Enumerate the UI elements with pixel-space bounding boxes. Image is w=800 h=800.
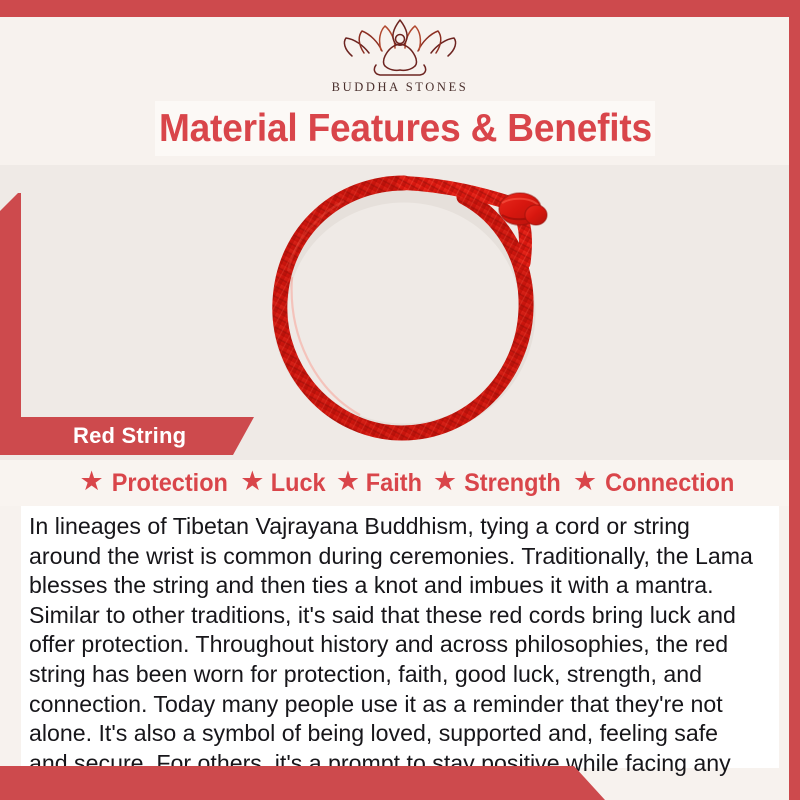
frame-left-accent-band (0, 193, 21, 455)
description-text: In lineages of Tibetan Vajrayana Buddhis… (29, 512, 756, 800)
features-list: ★ Protection ★ Luck ★ Faith ★ Strength ★… (0, 460, 800, 506)
star-icon: ★ (79, 468, 103, 495)
feature-label: Luck (270, 469, 325, 498)
infographic-poster: BUDDHA STONES Material Features & Benefi… (0, 0, 800, 800)
brand-header: BUDDHA STONES (0, 17, 800, 99)
star-icon: ★ (433, 468, 457, 495)
frame-top-bar (0, 0, 800, 17)
lotus-meditation-figure-icon (341, 17, 459, 79)
red-string-bracelet-image (252, 167, 568, 448)
feature-label: Connection (605, 469, 734, 498)
title-banner: Material Features & Benefits (155, 101, 655, 156)
frame-bottom-accent-band (0, 766, 605, 800)
star-icon: ★ (240, 468, 264, 495)
feature-item-connection: ★ Connection (573, 469, 739, 498)
page-title: Material Features & Benefits (159, 107, 652, 151)
adjustable-knot (499, 193, 547, 225)
star-icon: ★ (336, 468, 360, 495)
feature-item-faith: ★ Faith (336, 469, 424, 498)
brand-logo: BUDDHA STONES (0, 17, 800, 95)
feature-item-protection: ★ Protection (79, 469, 231, 498)
brand-name: BUDDHA STONES (332, 80, 469, 95)
star-icon: ★ (573, 468, 597, 495)
feature-label: Strength (464, 469, 561, 498)
feature-item-strength: ★ Strength (433, 469, 564, 498)
feature-item-luck: ★ Luck (240, 469, 327, 498)
product-label-text: Red String (73, 423, 186, 449)
description-panel: In lineages of Tibetan Vajrayana Buddhis… (21, 506, 779, 768)
feature-label: Faith (366, 469, 422, 498)
feature-label: Protection (111, 469, 227, 498)
product-photo-stage (0, 165, 800, 460)
frame-right-bar (789, 0, 800, 800)
product-label-banner: Red String (21, 417, 254, 455)
